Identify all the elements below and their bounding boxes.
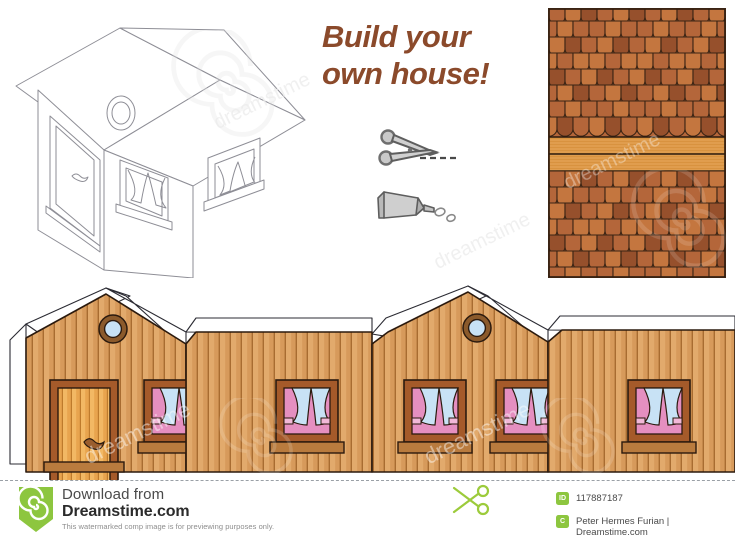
- glue-drop-2: [446, 214, 456, 223]
- roof-shingle: [605, 117, 621, 136]
- curtain-tie-right: [321, 418, 330, 424]
- roof-shingle: [565, 267, 581, 277]
- window-sill: [398, 442, 472, 453]
- round-window-inner-outline: [112, 102, 130, 124]
- footer-scissors-icon: [452, 484, 492, 520]
- shingle-pattern: [549, 9, 725, 277]
- door: [44, 380, 124, 482]
- curtain-tie-left: [152, 418, 161, 424]
- door-step: [44, 462, 124, 472]
- scissors-icon: [374, 128, 464, 172]
- roof-shingle: [549, 267, 565, 277]
- round-window-back: [463, 314, 491, 342]
- footer-divider: [0, 480, 735, 481]
- title-line-1: Build your: [322, 19, 470, 54]
- window-side-right-1: [622, 380, 696, 453]
- dreamstime-brand-label: Dreamstime.com: [62, 503, 190, 521]
- round-window-front: [99, 315, 127, 343]
- tab-left-edge: [10, 324, 26, 464]
- title-line-2: own house!: [322, 55, 542, 92]
- panel-front-gable: [26, 294, 212, 482]
- roof-shingle: [549, 117, 557, 136]
- roof-shingle: [621, 117, 637, 136]
- roof-shingle: [557, 117, 573, 136]
- curtain-tie-right: [449, 418, 458, 424]
- roof-shingle: [717, 117, 725, 136]
- glue-icon: [372, 182, 460, 230]
- panel-side-left: [186, 332, 372, 472]
- curtain-tie-right: [673, 418, 682, 424]
- roof-shingle: [629, 267, 645, 277]
- roof-shingle: [597, 267, 613, 277]
- roof-shingle: [661, 267, 677, 277]
- download-from-label: Download from: [62, 486, 164, 503]
- roof-shingle: [653, 117, 669, 136]
- roof-shingle: [669, 117, 685, 136]
- curtain-tie-left: [504, 418, 513, 424]
- roof-shingle: [701, 117, 717, 136]
- roof-shingle: [645, 267, 661, 277]
- window-sill: [270, 442, 344, 453]
- roof-shingle: [677, 267, 693, 277]
- roof-shingle: [589, 117, 605, 136]
- window-side-left-1: [270, 380, 344, 453]
- id-badge: ID: [556, 492, 569, 505]
- house-panel-strip: [0, 282, 735, 482]
- watermark-note: This watermarked comp image is for previ…: [62, 522, 274, 531]
- glue-drop-1: [434, 207, 446, 217]
- curtain-tie-left: [284, 418, 293, 424]
- copyright-badge: C: [556, 515, 569, 528]
- poster-canvas: Build your own house!: [0, 0, 735, 536]
- author-credit: Peter Hermes Furian | Dreamstime.com: [576, 516, 735, 538]
- curtain-tie-left: [636, 418, 645, 424]
- roof-shingle: [573, 117, 589, 136]
- roof-shingle-sheet: [548, 8, 726, 278]
- panel-side-right: [548, 330, 735, 472]
- window-back-1: [398, 380, 472, 453]
- roof-shingle: [581, 267, 597, 277]
- roof-shingle: [613, 267, 629, 277]
- roof-shingle: [693, 267, 709, 277]
- roof-shingle: [709, 267, 725, 277]
- window-sill: [622, 442, 696, 453]
- roof-shingle: [685, 117, 701, 136]
- isometric-house-outline: [8, 8, 308, 278]
- page-title: Build your own house!: [322, 18, 542, 92]
- dreamstime-spiral-logo: [17, 486, 55, 534]
- image-id: 117887187: [576, 493, 623, 504]
- curtain-tie-left: [412, 418, 421, 424]
- roof-shingle: [637, 117, 653, 136]
